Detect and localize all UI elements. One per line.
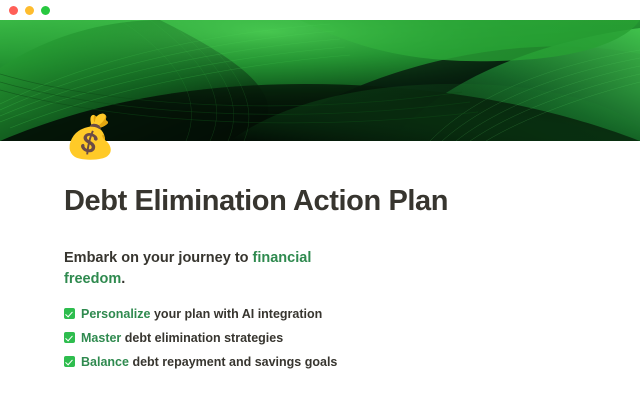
list-item[interactable]: Balance debt repayment and savings goals bbox=[64, 351, 576, 375]
check-box-icon bbox=[64, 356, 75, 367]
subtitle-trail: . bbox=[121, 271, 125, 287]
list-item-text: your plan with AI integration bbox=[154, 307, 322, 322]
maximize-button[interactable] bbox=[41, 6, 50, 15]
traffic-light-group bbox=[9, 6, 50, 15]
minimize-button[interactable] bbox=[25, 6, 34, 15]
list-item-text: debt elimination strategies bbox=[125, 331, 283, 346]
list-item[interactable]: Personalize your plan with AI integratio… bbox=[64, 303, 576, 327]
money-bag-icon: 💰 bbox=[64, 113, 112, 161]
list-item-keyword: Balance bbox=[81, 355, 129, 370]
document-content: Debt Elimination Action Plan Embark on y… bbox=[0, 141, 640, 400]
list-item[interactable]: Master debt elimination strategies bbox=[64, 327, 576, 351]
checklist: Personalize your plan with AI integratio… bbox=[64, 290, 576, 375]
app-window: 💰 Debt Elimination Action Plan Embark on… bbox=[0, 0, 640, 400]
close-button[interactable] bbox=[9, 6, 18, 15]
page-title: Debt Elimination Action Plan bbox=[64, 141, 576, 218]
check-box-icon bbox=[64, 332, 75, 343]
page-subtitle: Embark on your journey to financial free… bbox=[64, 218, 339, 290]
list-item-keyword: Master bbox=[81, 331, 121, 346]
window-titlebar bbox=[0, 0, 640, 20]
check-box-icon bbox=[64, 308, 75, 319]
list-item-keyword: Personalize bbox=[81, 307, 150, 322]
list-item-text: debt repayment and savings goals bbox=[132, 355, 337, 370]
subtitle-lead: Embark on your journey to bbox=[64, 250, 253, 266]
